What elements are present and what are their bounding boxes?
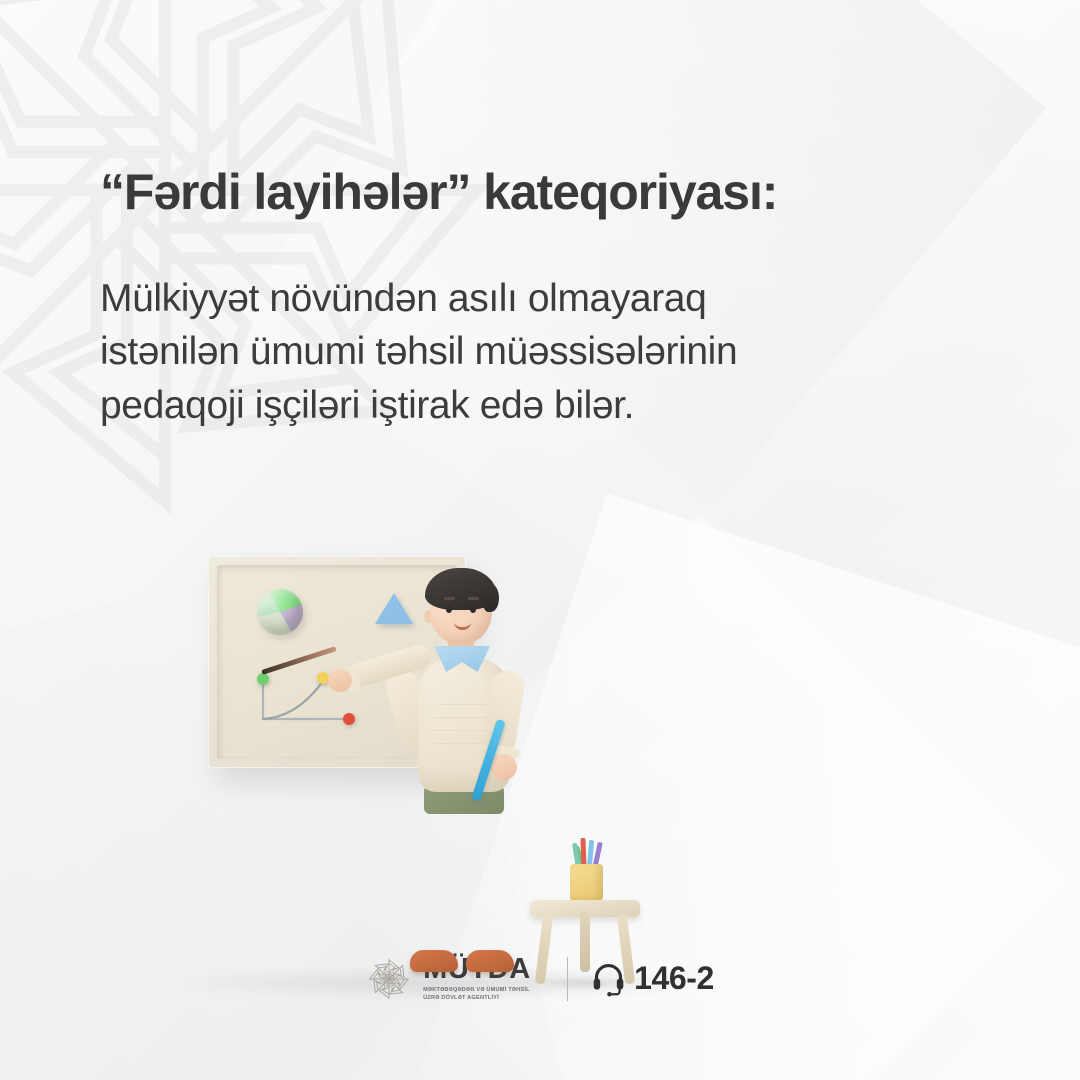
body-line-3: pedaqoji işçiləri iştirak edə bilər. (100, 379, 930, 432)
left-eye (446, 606, 452, 613)
page-title: “Fərdi layihələr” kateqoriyası: (100, 166, 1000, 218)
brand-tagline: MƏKTƏBƏQƏDƏR VƏ ÜMUMİ TƏHSİL ÜZRƏ DÖVLƏT… (423, 987, 545, 1002)
pencil-cup (570, 864, 603, 903)
hotline: 146-2 (590, 960, 714, 997)
left-shoe (410, 950, 458, 972)
body-line-2: istənilən ümumi təhsil müəssisələrinin (100, 325, 930, 378)
left-eyebrow (444, 597, 455, 600)
illustration (150, 542, 750, 1002)
hotline-number: 146-2 (634, 960, 714, 997)
left-hand (328, 669, 352, 692)
pie-chart-icon (257, 589, 303, 635)
headset-icon (590, 960, 627, 997)
footer-divider (567, 957, 568, 1001)
hair (425, 568, 497, 610)
right-hand (491, 754, 517, 780)
body-line-1: Mülkiyyət növündən asılı olmayaraq (100, 272, 930, 325)
mutda-emblem-icon (366, 956, 412, 1002)
body-paragraph: Mülkiyyət növündən asılı olmayaraq istən… (100, 272, 930, 432)
right-eyebrow (468, 597, 479, 600)
footer: MÜTDA MƏKTƏBƏQƏDƏR VƏ ÜMUMİ TƏHSİL ÜZRƏ … (0, 955, 1080, 1002)
right-shoe (466, 950, 514, 972)
poster-canvas: “Fərdi layihələr” kateqoriyası: Mülkiyyə… (0, 0, 1080, 1080)
right-eye (470, 606, 476, 613)
